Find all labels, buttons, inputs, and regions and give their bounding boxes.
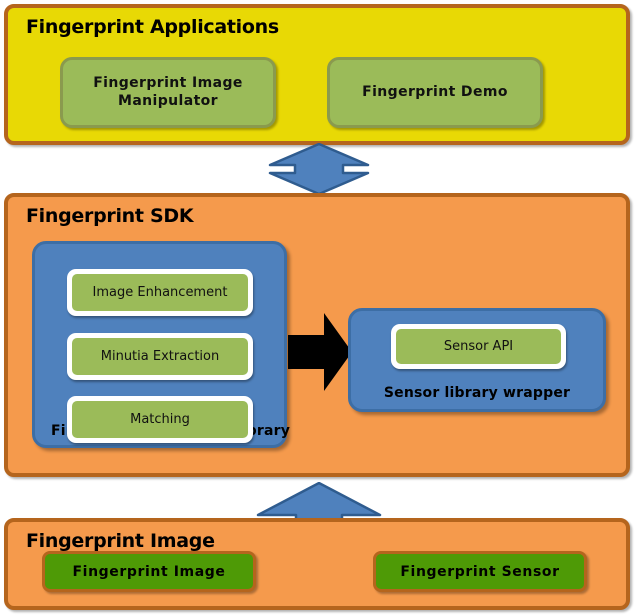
item-label: Fingerprint Image [73, 564, 226, 580]
module-sensor-api[interactable]: Sensor API [391, 324, 566, 369]
double-arrow-vertical-icon [267, 143, 371, 195]
module-label: Sensor API [396, 329, 561, 364]
item-label: Fingerprint Sensor [400, 564, 559, 580]
app-fingerprint-image-manipulator[interactable]: Fingerprint Image Manipulator [60, 57, 276, 128]
layer-sdk-title: Fingerprint SDK [26, 205, 193, 227]
app-fingerprint-demo[interactable]: Fingerprint Demo [327, 57, 543, 128]
layer-applications-title: Fingerprint Applications [26, 16, 279, 38]
group-sensor-library-wrapper-label: Sensor library wrapper [351, 385, 603, 401]
module-image-enhancement[interactable]: Image Enhancement [67, 269, 253, 316]
item-fingerprint-image[interactable]: Fingerprint Image [42, 551, 256, 592]
arrow-up-icon [256, 482, 382, 522]
module-minutia-extraction[interactable]: Minutia Extraction [67, 333, 253, 380]
architecture-diagram: Fingerprint Applications Fingerprint Ima… [0, 0, 638, 615]
module-label: Minutia Extraction [72, 338, 248, 375]
module-label: Matching [72, 401, 248, 438]
app-label: Fingerprint Image Manipulator [93, 75, 243, 110]
module-label: Image Enhancement [72, 274, 248, 311]
item-fingerprint-sensor[interactable]: Fingerprint Sensor [373, 551, 587, 592]
module-matching[interactable]: Matching [67, 396, 253, 443]
arrow-right-icon [288, 313, 352, 391]
layer-image-title: Fingerprint Image [26, 530, 215, 552]
app-label: Fingerprint Demo [362, 84, 508, 102]
